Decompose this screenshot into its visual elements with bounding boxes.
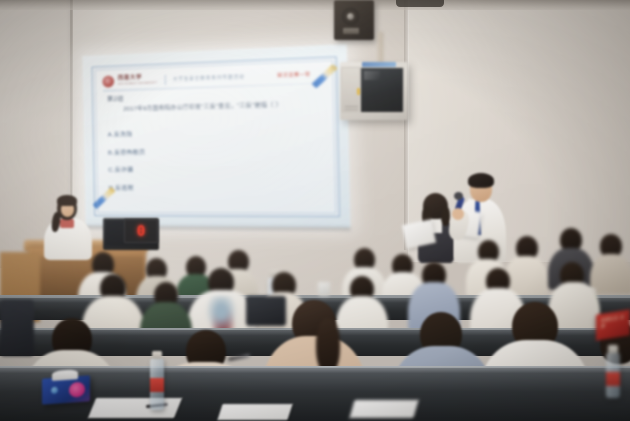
slide: 西南大学 SOUTHWEST UNIVERSITY 大学生安全教育系列专题活动 … <box>92 56 340 217</box>
option-a: A.反洗钱 <box>108 125 324 139</box>
timer-value: 0 <box>136 224 145 239</box>
man-hand <box>452 208 464 220</box>
microphone-head-icon <box>454 192 463 200</box>
chair-back <box>0 300 34 356</box>
name-card-text: 参赛队伍 名 牌 <box>601 314 625 330</box>
university-name: 西南大学 <box>118 75 158 82</box>
bottle-label <box>606 372 620 386</box>
host-collar <box>60 219 74 228</box>
team-name-card: 参赛队伍 名 牌 <box>596 309 630 340</box>
university-name-en: SOUTHWEST UNIVERSITY <box>118 81 158 86</box>
group-label: 第2组 <box>107 94 124 104</box>
student-torso <box>590 254 630 294</box>
wall-network-cabinet <box>340 62 408 120</box>
pencil-decoration-icon <box>93 187 116 209</box>
ceiling-speaker <box>334 0 374 40</box>
speaker-plate <box>343 28 359 34</box>
header-divider <box>165 74 166 84</box>
option-d: D.反逃税 <box>109 181 325 192</box>
cabinet-vent <box>345 106 358 107</box>
university-seal-icon <box>103 76 114 87</box>
ceiling-fixture <box>396 0 444 7</box>
round-badge: 知识竞赛一轮 <box>277 71 311 79</box>
tissue-box-graphic <box>51 387 58 394</box>
classroom-photo: 西南大学 SOUTHWEST UNIVERSITY 大学生安全教育系列专题活动 … <box>0 0 630 421</box>
option-b: B.反恐怖融资 <box>108 143 324 156</box>
question-text: 2017年9月国务院办公厅印发“三反”意见，“三反”是指（ ） <box>123 101 323 113</box>
led-timer-display: 0 <box>124 219 158 243</box>
course-title: 大学生安全教育系列专题活动 <box>173 72 273 82</box>
chair-back <box>246 296 286 326</box>
cabinet-brand-label <box>362 62 396 67</box>
answer-sheet <box>349 400 418 418</box>
pencil-decoration-icon <box>312 64 338 88</box>
answer-sheet <box>88 398 182 418</box>
header-rule <box>103 83 325 92</box>
options-list: A.反洗钱 B.反恐怖融资 C.反诈骗 D.反逃税 <box>108 125 325 200</box>
bottle-cap <box>152 351 162 359</box>
wall-corner <box>404 0 409 250</box>
answer-sheet <box>217 404 292 420</box>
bottle-label <box>150 378 164 392</box>
cabinet-glass-door <box>360 67 404 113</box>
tissue-box-graphic <box>69 382 85 398</box>
woman-hair-right <box>441 206 450 226</box>
bottle-cap <box>608 345 618 353</box>
eyeglasses-icon <box>471 186 490 191</box>
ceiling-edge <box>0 0 630 10</box>
paper-cup <box>318 282 330 296</box>
tissue-box <box>42 375 90 404</box>
water-bottle <box>150 358 164 410</box>
tissue-sheet <box>52 369 78 381</box>
slide-header: 西南大学 SOUTHWEST UNIVERSITY 大学生安全教育系列专题活动 … <box>103 65 325 89</box>
host-hair <box>57 195 77 206</box>
speaker-cone-icon <box>342 8 359 25</box>
projection-screen: 西南大学 SOUTHWEST UNIVERSITY 大学生安全教育系列专题活动 … <box>82 44 350 228</box>
cabinet-latch-icon <box>357 88 360 95</box>
option-c: C.反诈骗 <box>108 162 324 174</box>
university-identity: 西南大学 SOUTHWEST UNIVERSITY <box>118 75 158 85</box>
water-bottle <box>606 352 620 398</box>
